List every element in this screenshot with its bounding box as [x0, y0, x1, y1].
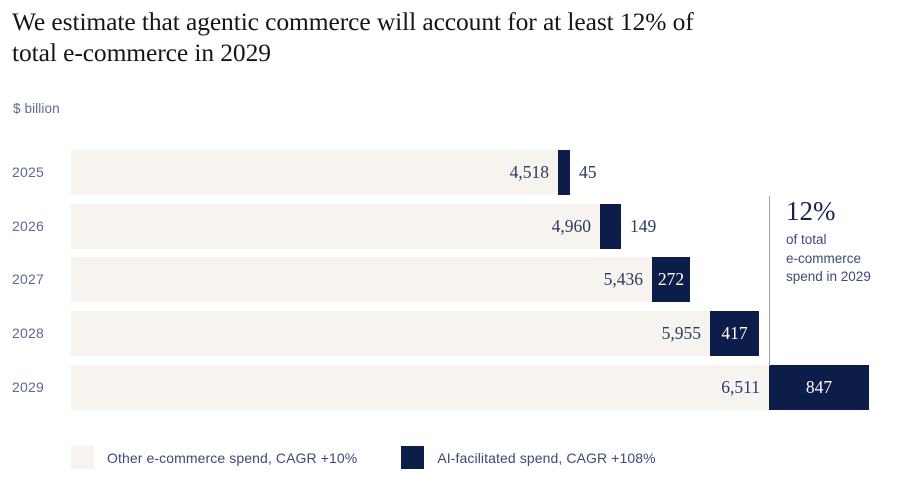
bar-row: 2027 5,436 272 [0, 257, 900, 302]
segment-other-spend[interactable]: 6,511 [71, 365, 769, 410]
value-label-other: 6,511 [721, 365, 760, 410]
bar-row: 2029 6,511 847 [0, 365, 900, 410]
page-title: We estimate that agentic commerce will a… [12, 6, 802, 68]
bar-track: 5,955 417 [71, 311, 759, 356]
row-year-label: 2027 [12, 257, 64, 302]
bar-row: 2026 4,960 149 [0, 204, 900, 249]
callout-annotation: 12% of total e-commerce spend in 2029 [769, 196, 871, 366]
segment-ai-spend[interactable]: 149 [600, 204, 621, 249]
value-label-ai: 417 [710, 311, 759, 356]
bar-track: 4,518 45 [71, 150, 570, 195]
legend-swatch-icon [401, 446, 424, 469]
segment-other-spend[interactable]: 4,960 [71, 204, 600, 249]
value-label-ai: 847 [769, 365, 869, 410]
bar-row: 2025 4,518 45 [0, 150, 900, 195]
bar-track: 6,511 847 [71, 365, 869, 410]
row-year-label: 2028 [12, 311, 64, 356]
axis-unit-label: $ billion [13, 101, 60, 116]
legend-item-ai-spend[interactable]: AI-facilitated spend, CAGR +108% [401, 446, 655, 469]
value-label-ai: 272 [652, 257, 690, 302]
legend-label: AI-facilitated spend, CAGR +108% [437, 450, 655, 466]
bar-track: 5,436 272 [71, 257, 690, 302]
segment-ai-spend[interactable]: 847 [769, 365, 869, 410]
segment-ai-spend[interactable]: 45 [558, 150, 570, 195]
segment-other-spend[interactable]: 5,436 [71, 257, 652, 302]
value-label-other: 4,518 [510, 150, 549, 195]
row-year-label: 2025 [12, 150, 64, 195]
legend-item-other-spend[interactable]: Other e-commerce spend, CAGR +10% [71, 446, 357, 469]
row-year-label: 2026 [12, 204, 64, 249]
bar-track: 4,960 149 [71, 204, 621, 249]
legend-label: Other e-commerce spend, CAGR +10% [107, 450, 357, 466]
callout-description: of total e-commerce spend in 2029 [786, 231, 871, 287]
legend-swatch-icon [71, 446, 94, 469]
segment-ai-spend[interactable]: 417 [710, 311, 759, 356]
bar-row: 2028 5,955 417 [0, 311, 900, 356]
value-label-other: 5,955 [662, 311, 701, 356]
value-label-ai: 149 [630, 204, 656, 249]
value-label-ai: 45 [579, 150, 597, 195]
chart-plot-area: 2025 4,518 45 2026 4,960 149 2027 5,436 [0, 145, 900, 417]
value-label-other: 5,436 [604, 257, 643, 302]
segment-other-spend[interactable]: 4,518 [71, 150, 558, 195]
callout-percentage: 12% [786, 196, 871, 226]
segment-other-spend[interactable]: 5,955 [71, 311, 710, 356]
value-label-other: 4,960 [552, 204, 591, 249]
row-year-label: 2029 [12, 365, 64, 410]
segment-ai-spend[interactable]: 272 [652, 257, 690, 302]
chart-legend: Other e-commerce spend, CAGR +10% AI-fac… [71, 446, 700, 469]
